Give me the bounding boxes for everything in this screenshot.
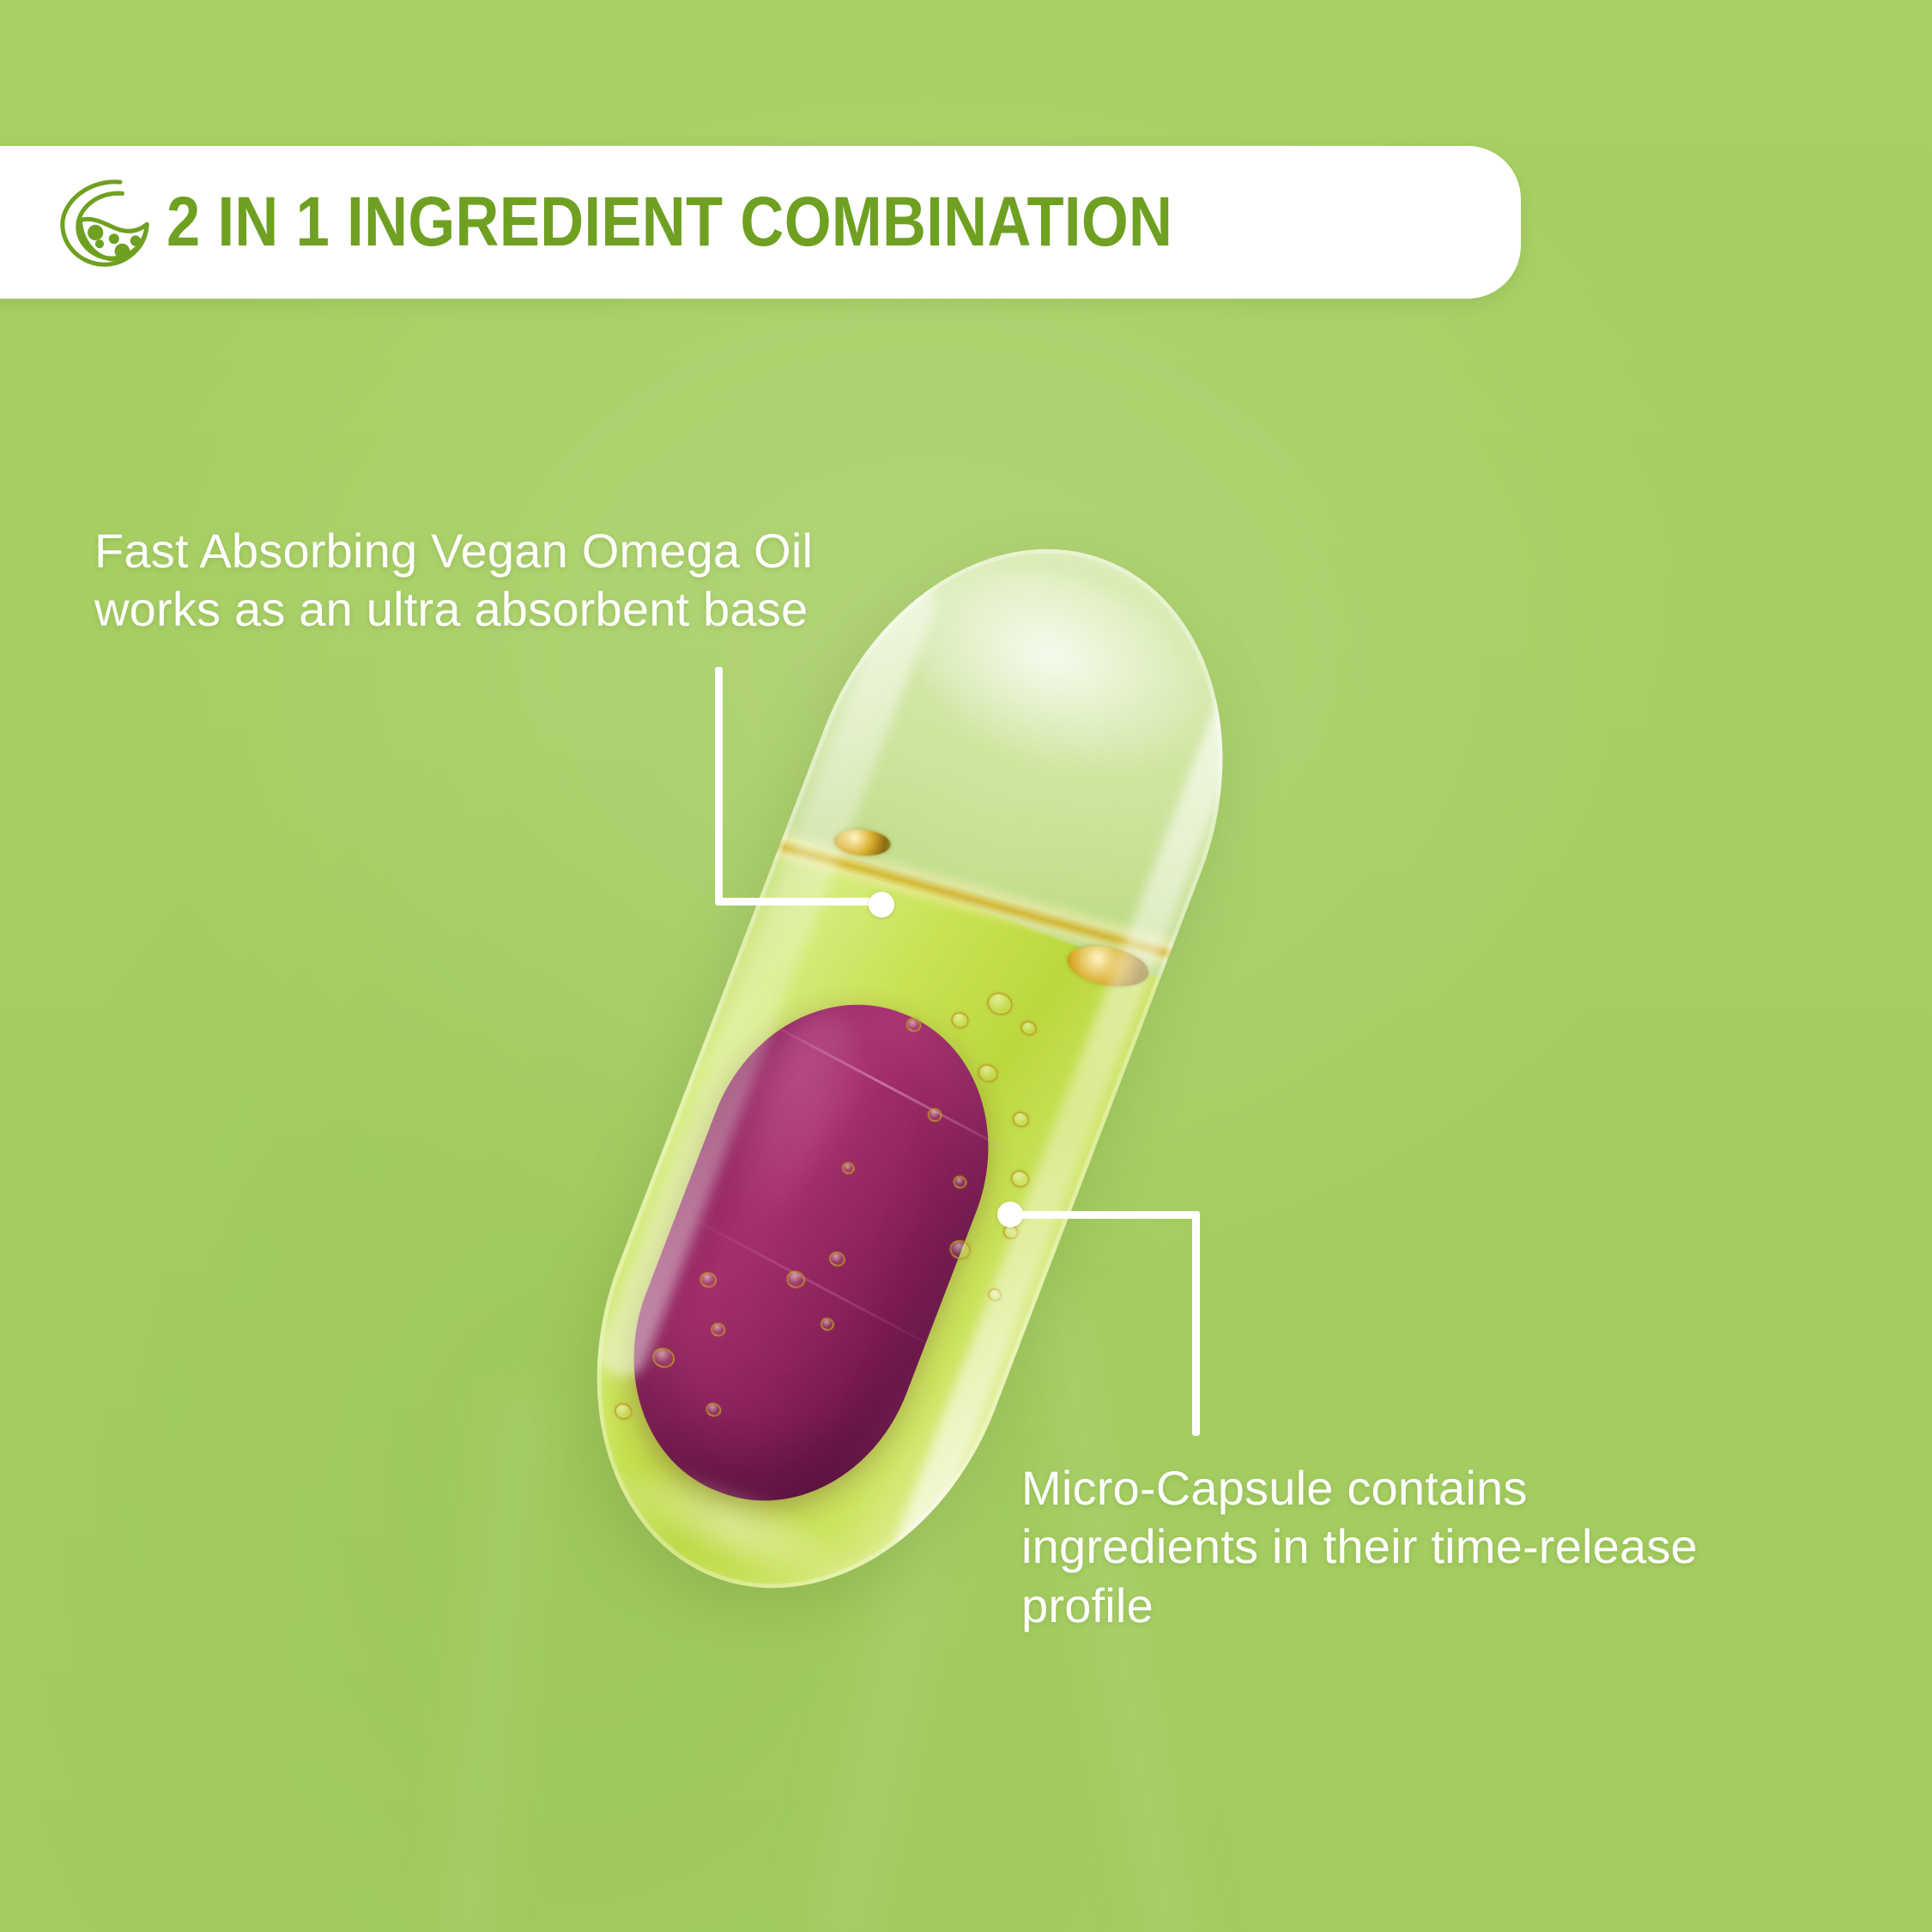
callout-line: ingredients in their time-release	[1021, 1517, 1888, 1576]
callout-line: Fast Absorbing Vegan Omega Oil	[94, 522, 1021, 580]
banner-title: 2 IN 1 INGREDIENT COMBINATION	[167, 187, 1172, 257]
callout-line: Micro-Capsule contains	[1021, 1459, 1888, 1517]
callout-line: profile	[1021, 1577, 1888, 1635]
callout-micro-capsule-text: Micro-Capsule contains ingredients in th…	[1021, 1459, 1888, 1635]
infographic-canvas: 2 IN 1 INGREDIENT COMBINATION Fast Absor…	[0, 0, 1932, 1932]
callout-leader-line-horizontal	[1016, 1211, 1200, 1219]
header-banner: 2 IN 1 INGREDIENT COMBINATION	[0, 146, 1521, 299]
callout-fast-absorbing-oil-text: Fast Absorbing Vegan Omega Oil works as …	[94, 522, 1021, 639]
callout-leader-line-vertical	[1192, 1211, 1200, 1436]
callout-leader-line-vertical	[715, 667, 723, 905]
background-light-streak	[417, 1387, 570, 1932]
callout-line: works as an ultra absorbent base	[94, 580, 1021, 639]
callout-marker-dot	[869, 892, 894, 918]
callout-leader-line-horizontal	[715, 898, 887, 905]
bowl-with-ingredients-icon	[48, 171, 151, 274]
